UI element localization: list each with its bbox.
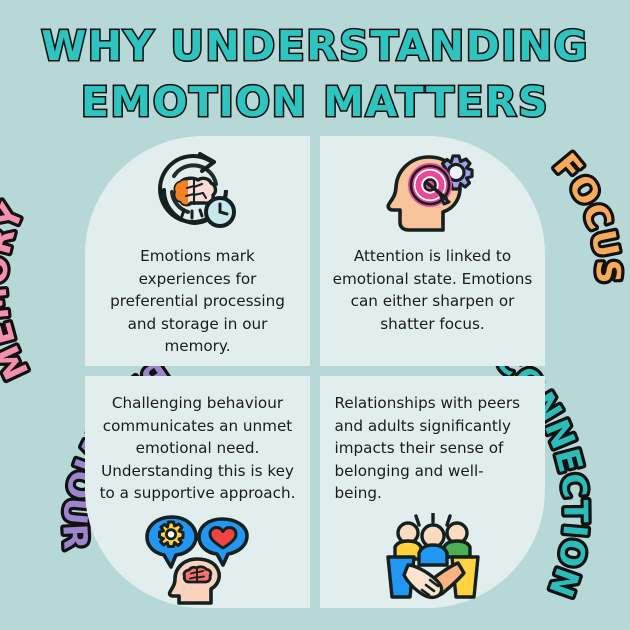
arc-label-memory-text: MEMORY <box>0 197 36 386</box>
quadrant-memory[interactable]: Emotions mark experiences for preferenti… <box>85 136 310 366</box>
people-handshake-icon <box>374 513 492 601</box>
quadrant-connection-body: Relationships with peers and adults sign… <box>335 392 531 505</box>
page-title: WHY UNDERSTANDING EMOTION MATTERS <box>0 18 630 130</box>
head-brain-speech-bubbles-icon <box>139 513 257 605</box>
quadrant-behaviour[interactable]: Challenging behaviour communicates an un… <box>85 376 310 608</box>
infographic-poster: WHY UNDERSTANDING EMOTION MATTERS MEMORY… <box>0 0 630 630</box>
quadrant-focus-body: Attention is linked to emotional state. … <box>331 245 535 335</box>
quadrant-connection[interactable]: Relationships with peers and adults sign… <box>320 376 545 608</box>
head-target-gear-icon <box>383 150 483 236</box>
title-line-1: WHY UNDERSTANDING <box>0 18 630 74</box>
brain-refresh-clock-icon <box>150 150 246 236</box>
quadrant-memory-body: Emotions mark experiences for preferenti… <box>96 245 300 358</box>
quadrant-behaviour-body: Challenging behaviour communicates an un… <box>94 392 302 505</box>
title-line-2: EMOTION MATTERS <box>0 74 630 130</box>
arc-label-focus-text: FOCUS <box>546 146 628 285</box>
quadrant-focus[interactable]: Attention is linked to emotional state. … <box>320 136 545 366</box>
